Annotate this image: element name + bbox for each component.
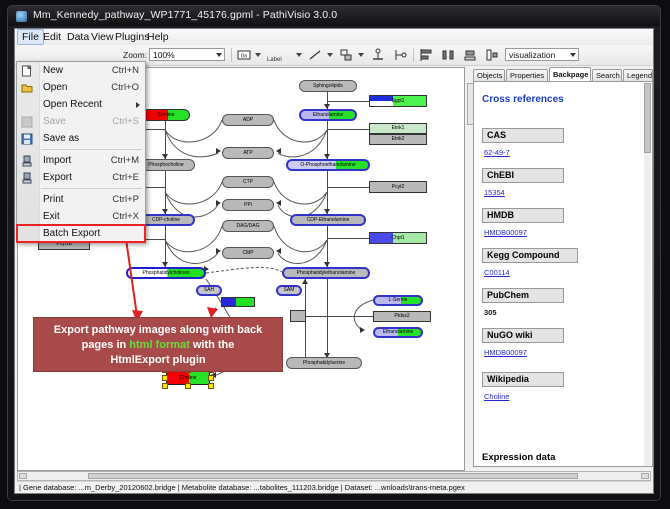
menu-item-save-as[interactable]: Save as xyxy=(17,130,145,147)
title-bar: Mm_Kennedy_pathway_WP1771_45176.gpml - P… xyxy=(8,6,660,26)
callout-line2-a: pages in xyxy=(82,339,130,351)
callout-line-1: Export pathway images along with back xyxy=(34,323,282,338)
menu-item-import[interactable]: Import Ctrl+M xyxy=(17,152,145,169)
menu-item-open-recent[interactable]: Open Recent xyxy=(17,96,145,113)
app-body: File Edit Data View Plugins Help Zoom: 1… xyxy=(14,28,654,494)
screenshot-root: Mm_Kennedy_pathway_WP1771_45176.gpml - P… xyxy=(0,0,670,509)
callout-line-3: HtmlExport plugin xyxy=(34,353,282,368)
callout-line2-c: with the xyxy=(190,339,235,351)
window-title: Mm_Kennedy_pathway_WP1771_45176.gpml - P… xyxy=(33,9,337,21)
menu-item-open[interactable]: Open Ctrl+O xyxy=(17,79,145,96)
save-disk-icon xyxy=(21,116,33,128)
import-icon xyxy=(21,155,33,167)
menu-item-new[interactable]: New Ctrl+N xyxy=(17,62,145,79)
callout-line-2: pages in html format with the xyxy=(34,338,282,353)
menu-separator xyxy=(41,149,142,150)
menu-separator xyxy=(41,188,142,189)
menu-item-save: Save Ctrl+S xyxy=(17,113,145,130)
menu-item-batch-export[interactable]: Batch Export xyxy=(17,225,145,242)
menu-item-export[interactable]: Export Ctrl+E xyxy=(17,169,145,186)
callout-line2-highlight: html format xyxy=(129,339,190,351)
new-document-icon xyxy=(21,65,33,77)
file-menu-popup: New Ctrl+N Open Ctrl+O Open Recent xyxy=(16,61,146,243)
application-window: Mm_Kennedy_pathway_WP1771_45176.gpml - P… xyxy=(8,6,660,500)
open-folder-icon xyxy=(21,82,33,94)
export-icon xyxy=(21,172,33,184)
pathvisio-icon xyxy=(16,11,27,22)
annotation-callout: Export pathway images along with back pa… xyxy=(33,317,283,372)
submenu-arrow-icon xyxy=(136,102,140,108)
menu-item-print[interactable]: Print Ctrl+P xyxy=(17,191,145,208)
menu-item-exit[interactable]: Exit Ctrl+X xyxy=(17,208,145,225)
save-as-icon xyxy=(21,133,33,145)
